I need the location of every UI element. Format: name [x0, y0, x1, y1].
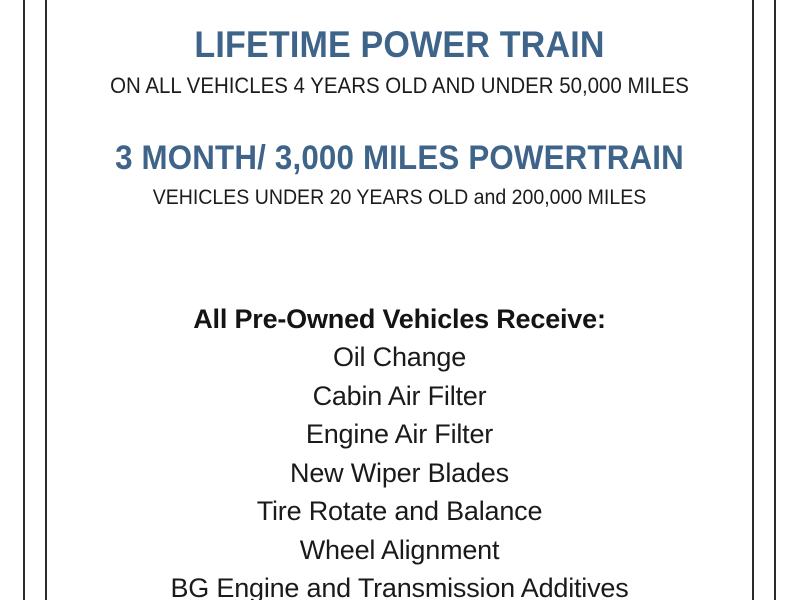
service-item: Wheel Alignment [47, 531, 752, 570]
page-edge-rule-right-outer [774, 0, 776, 600]
warranty-subline-3month: VEHICLES UNDER 20 YEARS OLD and 200,000 … [72, 186, 728, 209]
service-item: Tire Rotate and Balance [47, 492, 752, 531]
warranty-poster: LIFETIME POWER TRAIN ON ALL VEHICLES 4 Y… [0, 0, 800, 600]
service-item: New Wiper Blades [47, 454, 752, 493]
page-edge-rule-left-outer [23, 0, 25, 600]
services-list: Oil ChangeCabin Air FilterEngine Air Fil… [47, 338, 752, 600]
service-item: Engine Air Filter [47, 415, 752, 454]
page-edge-rule-right-inner [752, 0, 754, 600]
warranty-block-3month: 3 MONTH/ 3,000 MILES POWERTRAIN VEHICLES… [47, 141, 752, 209]
warranty-block-lifetime: LIFETIME POWER TRAIN ON ALL VEHICLES 4 Y… [47, 26, 752, 98]
service-item: Cabin Air Filter [47, 377, 752, 416]
services-section: All Pre-Owned Vehicles Receive: Oil Chan… [47, 300, 752, 600]
poster-content: LIFETIME POWER TRAIN ON ALL VEHICLES 4 Y… [47, 0, 752, 600]
service-item: BG Engine and Transmission Additives [47, 569, 752, 600]
warranty-subline-lifetime: ON ALL VEHICLES 4 YEARS OLD AND UNDER 50… [72, 74, 728, 98]
services-title: All Pre-Owned Vehicles Receive: [47, 300, 752, 338]
warranty-headline-3month: 3 MONTH/ 3,000 MILES POWERTRAIN [75, 141, 724, 175]
warranty-headline-lifetime: LIFETIME POWER TRAIN [75, 26, 724, 63]
service-item: Oil Change [47, 338, 752, 377]
